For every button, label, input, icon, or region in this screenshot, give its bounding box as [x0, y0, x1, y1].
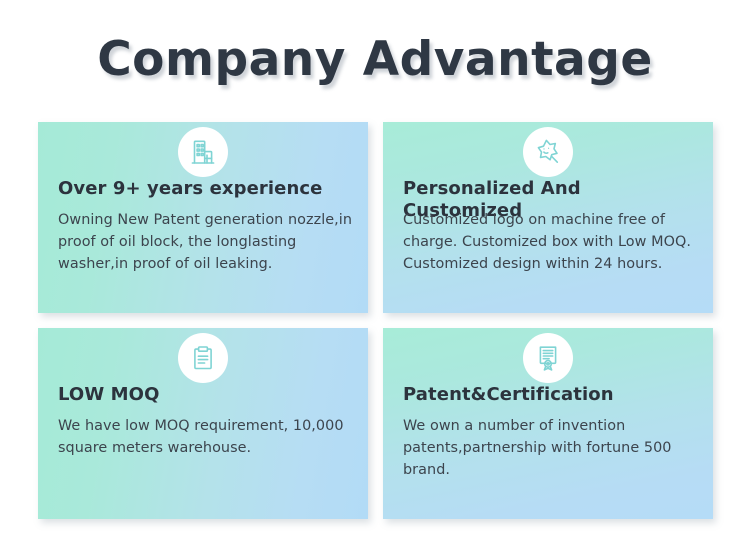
- magic-star-icon: [523, 127, 573, 177]
- card-body: Owning New Patent generation nozzle,in p…: [58, 210, 352, 276]
- clipboard-icon: [178, 333, 228, 383]
- card-body: Customized logo on machine free of charg…: [403, 210, 697, 276]
- advantage-card-1: Over 9+ years experience Owning New Pate…: [38, 122, 368, 313]
- advantage-card-4: Patent&Certification We own a number of …: [383, 328, 713, 519]
- advantage-card-3: LOW MOQ We have low MOQ requirement, 10,…: [38, 328, 368, 519]
- advantage-card-2: Personalized And Customized Customized l…: [383, 122, 713, 313]
- card-heading: Patent&Certification: [403, 384, 699, 406]
- card-body: We own a number of invention patents,par…: [403, 416, 697, 482]
- building-icon: [178, 127, 228, 177]
- card-heading: LOW MOQ: [58, 384, 354, 406]
- company-advantage-page: Company Advantage Over 9+ years experien…: [0, 0, 750, 542]
- card-heading: Over 9+ years experience: [58, 178, 354, 200]
- page-title: Company Advantage: [0, 34, 750, 86]
- certificate-icon: [523, 333, 573, 383]
- card-body: We have low MOQ requirement, 10,000 squa…: [58, 416, 352, 460]
